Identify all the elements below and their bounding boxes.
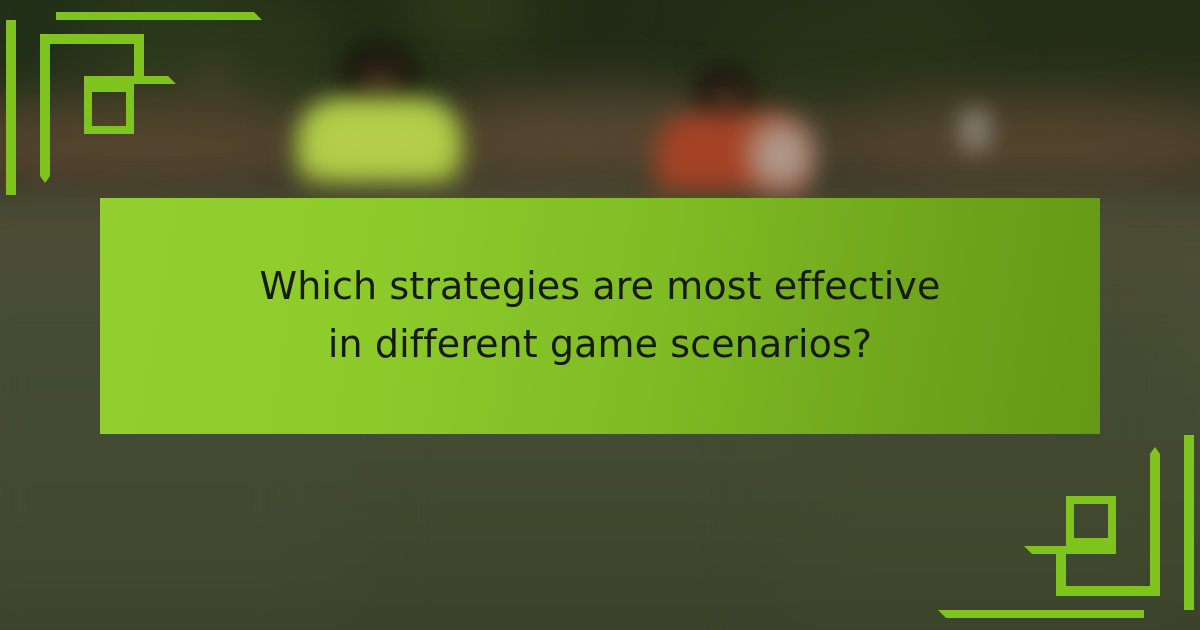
share-card: Which strategies are most effective in d… xyxy=(0,0,1200,630)
headline-text: Which strategies are most effective in d… xyxy=(250,258,950,374)
headline-banner: Which strategies are most effective in d… xyxy=(100,198,1100,434)
